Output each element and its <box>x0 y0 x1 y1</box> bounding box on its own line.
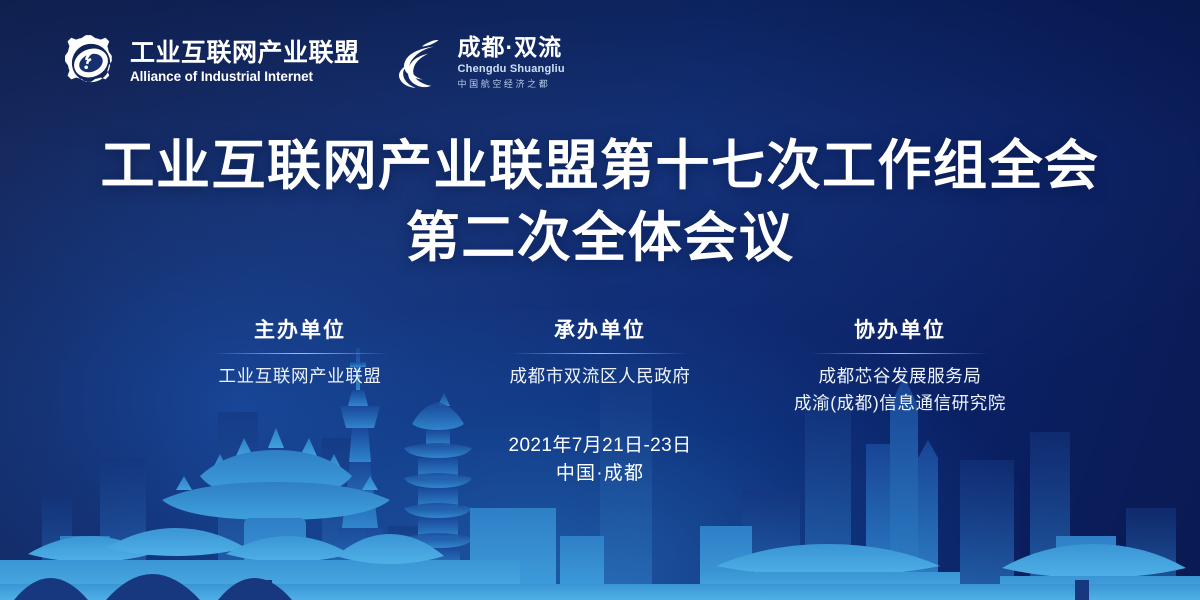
swoosh-airplane-logo-icon <box>398 36 450 90</box>
logo-bar: 工业互联网产业联盟 Alliance of Industrial Interne… <box>62 34 565 92</box>
conference-banner: 工业互联网产业联盟 Alliance of Industrial Interne… <box>0 0 1200 600</box>
logo-alliance-text: 工业互联网产业联盟 Alliance of Industrial Interne… <box>130 40 360 85</box>
organizer-undertaker: 承办单位 成都市双流区人民政府 <box>450 318 750 390</box>
logo-chengdu-name-en: Chengdu Shuangliu <box>458 62 565 76</box>
logo-alliance-name-en: Alliance of Industrial Internet <box>130 69 360 86</box>
logo-chengdu-name-cn: 成都·双流 <box>458 35 565 59</box>
title-line-2: 第二次全体会议 <box>0 203 1200 275</box>
organizer-entity: 成渝(成都)信息通信研究院 <box>750 390 1050 417</box>
title-line-1: 工业互联网产业联盟第十七次工作组全会 <box>0 131 1200 203</box>
organizer-role-label: 协办单位 <box>750 318 1050 344</box>
organizer-divider <box>811 353 989 354</box>
logo-alliance-name-cn: 工业互联网产业联盟 <box>130 40 360 66</box>
logo-alliance-of-industrial-internet: 工业互联网产业联盟 Alliance of Industrial Interne… <box>62 34 360 92</box>
logo-chengdu-tagline: 中国航空经济之都 <box>458 78 565 91</box>
organizer-entity: 工业互联网产业联盟 <box>150 363 450 390</box>
organizer-host: 主办单位 工业互联网产业联盟 <box>150 318 450 390</box>
organizer-entity: 成都芯谷发展服务局 <box>750 363 1050 390</box>
gear-wifi-logo-icon <box>62 34 120 92</box>
organizer-coorganizer: 协办单位 成都芯谷发展服务局 成渝(成都)信息通信研究院 <box>750 318 1050 418</box>
event-date: 2021年7月21日-23日 <box>0 432 1200 460</box>
event-meta: 2021年7月21日-23日 中国·成都 <box>0 432 1200 487</box>
organizer-role-label: 承办单位 <box>450 318 750 344</box>
organizer-role-label: 主办单位 <box>150 318 450 344</box>
logo-chengdu-shuangliu: 成都·双流 Chengdu Shuangliu 中国航空经济之都 <box>398 35 565 90</box>
organizer-divider <box>211 353 389 354</box>
organizer-divider <box>511 353 689 354</box>
organizer-row: 主办单位 工业互联网产业联盟 承办单位 成都市双流区人民政府 协办单位 成都芯谷… <box>0 318 1200 418</box>
conference-title: 工业互联网产业联盟第十七次工作组全会 第二次全体会议 <box>0 131 1200 275</box>
logo-chengdu-text: 成都·双流 Chengdu Shuangliu 中国航空经济之都 <box>458 35 565 90</box>
organizer-entity: 成都市双流区人民政府 <box>450 363 750 390</box>
event-place: 中国·成都 <box>0 460 1200 488</box>
